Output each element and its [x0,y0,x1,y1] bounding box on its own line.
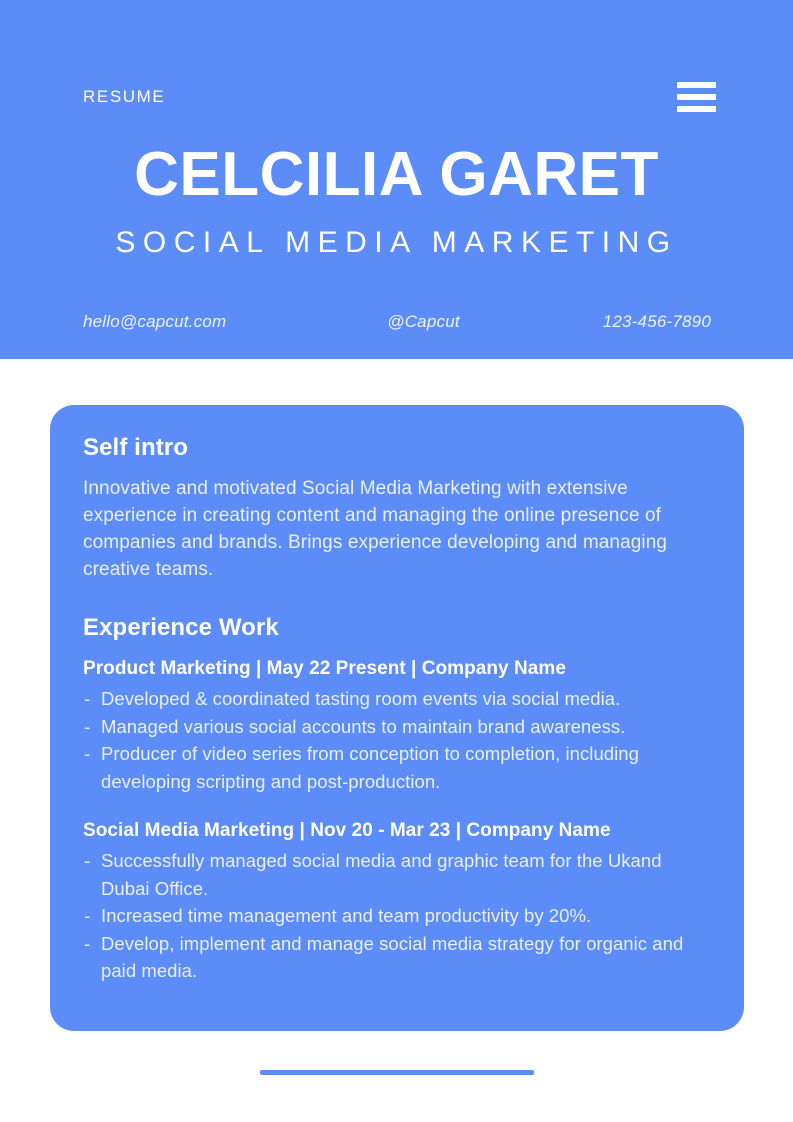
content-card: Self intro Innovative and motivated Soci… [50,405,744,1031]
home-indicator-bar [260,1070,534,1075]
candidate-job-title: SOCIAL MEDIA MARKETING [0,224,793,262]
experience-item-heading: Product Marketing | May 22 Present | Com… [83,655,710,683]
experience-item: Social Media Marketing | Nov 20 - Mar 23… [83,817,710,985]
candidate-name: CELCILIA GARET [0,138,793,212]
list-item: Increased time management and team produ… [83,902,710,930]
header-topbar: RESUME [83,80,716,114]
contact-handle[interactable]: @Capcut [387,312,460,332]
hamburger-bar-1 [677,82,716,88]
resume-label: RESUME [83,87,165,107]
experience-item-heading: Social Media Marketing | Nov 20 - Mar 23… [83,817,710,845]
hamburger-menu-icon[interactable] [677,82,716,112]
list-item: Developed & coordinated tasting room eve… [83,685,710,713]
experience-heading: Experience Work [83,613,710,643]
resume-header: RESUME CELCILIA GARET SOCIAL MEDIA MARKE… [0,0,793,359]
list-item: Develop, implement and manage social med… [83,930,710,985]
list-item: Successfully managed social media and gr… [83,847,710,902]
experience-item-bullets: Developed & coordinated tasting room eve… [83,685,710,795]
list-item: Managed various social accounts to maint… [83,713,710,741]
contact-phone[interactable]: 123-456-7890 [603,312,711,332]
contact-row: hello@capcut.com @Capcut 123-456-7890 [83,312,713,332]
hamburger-bar-3 [677,106,716,112]
list-item: Producer of video series from conception… [83,740,710,795]
hamburger-bar-2 [677,94,716,100]
experience-item: Product Marketing | May 22 Present | Com… [83,655,710,795]
experience-item-bullets: Successfully managed social media and gr… [83,847,710,985]
self-intro-heading: Self intro [83,433,710,463]
resume-page: RESUME CELCILIA GARET SOCIAL MEDIA MARKE… [0,0,793,1122]
self-intro-body: Innovative and motivated Social Media Ma… [83,475,710,583]
contact-email[interactable]: hello@capcut.com [83,312,226,332]
